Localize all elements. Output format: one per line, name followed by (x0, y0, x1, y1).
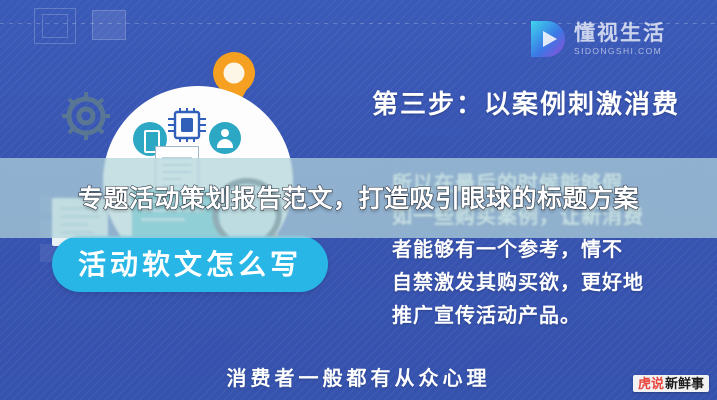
badge-activity-copywriting: 活动软文怎么写 (52, 236, 328, 292)
watermark: 虎说 新鲜事 (633, 375, 709, 392)
body-line-4: 自禁激发其购买欲，更好地 (392, 267, 712, 300)
body-line-3: 者能够有一个参考，情不 (392, 234, 712, 267)
cover-image: 懂视生活 SIDONGSHI.COM (0, 0, 717, 400)
page-title: 专题活动策划报告范文，打造吸引眼球的标题方案 (0, 162, 717, 236)
user-badge-icon (209, 122, 241, 154)
watermark-highlight: 虎说 (638, 377, 664, 390)
bottom-caption: 消费者一般都有从众心理 (0, 362, 717, 391)
gear-icon (58, 88, 114, 144)
play-button-d-icon (526, 18, 568, 60)
watermark-rest: 新鲜事 (665, 377, 704, 390)
body-line-5: 推广宣传活动产品。 (392, 300, 712, 333)
logo-name: 懂视生活 (574, 23, 666, 44)
logo-domain: SIDONGSHI.COM (574, 47, 666, 56)
microchip-icon (168, 108, 206, 142)
step-title: 第三步：以案例刺激消费 (372, 84, 680, 121)
site-logo[interactable]: 懂视生活 SIDONGSHI.COM (526, 18, 666, 60)
